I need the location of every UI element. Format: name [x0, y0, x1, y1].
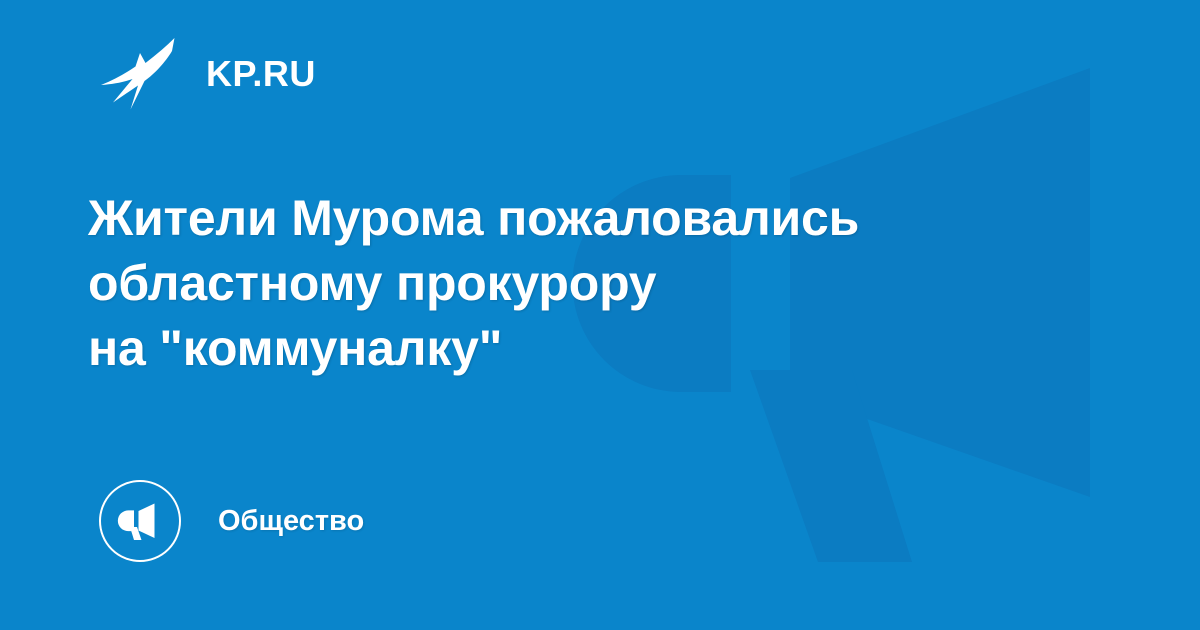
rubric-badge[interactable]: Общество [99, 480, 364, 562]
megaphone-icon [117, 498, 163, 544]
article-share-card: KP.RU Жители Мурома пожаловались областн… [0, 0, 1200, 630]
rubric-label: Общество [218, 507, 364, 536]
brand-lockup[interactable]: KP.RU [99, 36, 316, 112]
swallow-bird-icon [99, 36, 177, 112]
brand-name: KP.RU [206, 56, 316, 92]
rubric-icon-circle [99, 480, 181, 562]
page-title: Жители Мурома пожаловались областному пр… [88, 186, 1048, 381]
